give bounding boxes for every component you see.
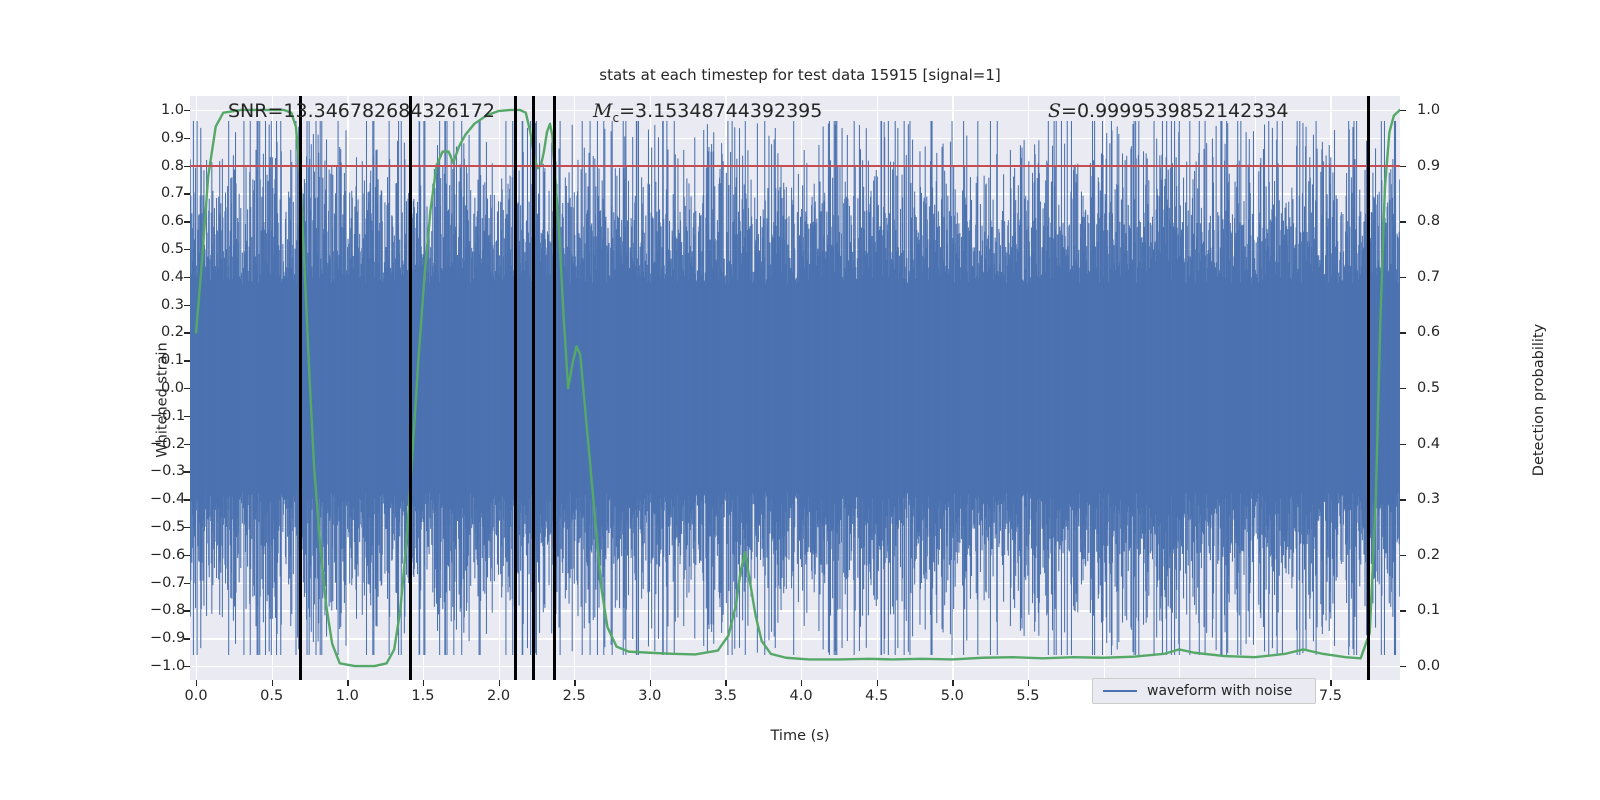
x-tick-label: 1.5 [393, 688, 453, 704]
marker-line [532, 96, 535, 680]
y-tick-label-left: 0.5 [150, 241, 184, 257]
x-tick-mark [952, 680, 953, 686]
marker-line [553, 96, 556, 680]
y-tick-label-left: −1.0 [150, 658, 184, 674]
x-tick-label: 5.5 [998, 688, 1058, 704]
x-tick-label: 3.5 [695, 688, 755, 704]
y-tick-label-right: 0.3 [1417, 491, 1457, 507]
y-tick-label-right: 0.5 [1417, 380, 1457, 396]
y-tick-label-right: 0.1 [1417, 602, 1457, 618]
y-tick-label-right: 1.0 [1417, 102, 1457, 118]
y-tick-label-left: 0.0 [150, 380, 184, 396]
x-tick-label: 0.5 [242, 688, 302, 704]
marker-line [1367, 96, 1370, 680]
y-tick-label-right: 0.8 [1417, 213, 1457, 229]
y-tick-label-left: 0.8 [150, 158, 184, 174]
y-tick-mark-right [1400, 666, 1406, 667]
y-tick-label-left: 0.3 [150, 297, 184, 313]
x-tick-mark [1028, 680, 1029, 686]
y-tick-mark-right [1400, 277, 1406, 278]
x-tick-mark [877, 680, 878, 686]
y-tick-label-left: 0.6 [150, 213, 184, 229]
y-tick-mark-right [1400, 555, 1406, 556]
y-tick-label-right: 0.6 [1417, 324, 1457, 340]
x-tick-label: 2.5 [544, 688, 604, 704]
x-axis-label: Time (s) [0, 728, 1600, 744]
probability-trace [196, 110, 1400, 666]
y-tick-mark-right [1400, 388, 1406, 389]
y-tick-mark-right [1400, 221, 1406, 222]
annotation-s-value: =0.9999539852142334 [1061, 100, 1288, 122]
page-title: stats at each timestep for test data 159… [0, 66, 1600, 84]
y-tick-label-left: 0.2 [150, 324, 184, 340]
y-tick-label-right: 0.7 [1417, 269, 1457, 285]
y-tick-mark-right [1400, 332, 1406, 333]
annotation-mc-value: =3.15348744392395 [619, 100, 822, 122]
x-tick-mark [499, 680, 500, 686]
x-tick-mark [801, 680, 802, 686]
x-tick-label: 3.0 [620, 688, 680, 704]
marker-line [409, 96, 412, 680]
x-tick-mark [347, 680, 348, 686]
y-tick-mark-right [1400, 444, 1406, 445]
y-tick-label-left: 0.7 [150, 185, 184, 201]
marker-line [514, 96, 517, 680]
y-tick-label-right: 0.0 [1417, 658, 1457, 674]
x-tick-mark [423, 680, 424, 686]
y-tick-label-left: 0.1 [150, 352, 184, 368]
x-tick-label: 5.0 [922, 688, 982, 704]
y-tick-label-right: 0.4 [1417, 436, 1457, 452]
y-tick-label-left: −0.3 [150, 463, 184, 479]
y-tick-label-left: −0.9 [150, 630, 184, 646]
y-tick-label-left: −0.4 [150, 491, 184, 507]
x-tick-label: 0.0 [166, 688, 226, 704]
y-tick-label-left: −0.2 [150, 436, 184, 452]
y-tick-label-right: 0.2 [1417, 547, 1457, 563]
detection-probability-series [190, 96, 1400, 680]
marker-line [299, 96, 302, 680]
annotation-snr: SNR=13.346782684326172 [228, 100, 495, 122]
y-tick-label-right: 0.9 [1417, 158, 1457, 174]
y-tick-mark-right [1400, 166, 1406, 167]
x-tick-label: 4.5 [847, 688, 907, 704]
x-tick-label: 1.0 [317, 688, 377, 704]
y-tick-label-left: 0.9 [150, 130, 184, 146]
y-tick-label-left: −0.7 [150, 575, 184, 591]
annotation-snr-text: SNR=13.346782684326172 [228, 100, 495, 122]
annotation-s-symbol: S [1048, 100, 1061, 122]
threshold-line [190, 165, 1400, 167]
y-tick-mark-right [1400, 610, 1406, 611]
x-tick-mark [1330, 680, 1331, 686]
plot-area [190, 96, 1400, 680]
x-tick-mark [196, 680, 197, 686]
x-tick-mark [650, 680, 651, 686]
y-tick-label-left: −0.8 [150, 602, 184, 618]
y-tick-label-left: −0.1 [150, 408, 184, 424]
x-tick-mark [574, 680, 575, 686]
legend-label-waveform: waveform with noise [1147, 683, 1292, 699]
y-tick-mark-right [1400, 499, 1406, 500]
annotation-chirp-mass: Mc=3.15348744392395 [593, 100, 822, 125]
y2-axis-label: Detection probability [1531, 324, 1547, 476]
x-tick-label: 2.0 [469, 688, 529, 704]
annotation-score: S=0.9999539852142334 [1048, 100, 1289, 122]
y-tick-label-left: 1.0 [150, 102, 184, 118]
legend-swatch-waveform [1103, 690, 1137, 693]
annotation-mc-symbol: M [593, 100, 612, 122]
legend[interactable]: waveform with noise [1092, 678, 1316, 704]
x-tick-label: 4.0 [771, 688, 831, 704]
y-tick-mark-right [1400, 110, 1406, 111]
figure-canvas: stats at each timestep for test data 159… [0, 0, 1600, 800]
y-tick-label-left: 0.4 [150, 269, 184, 285]
y-tick-label-left: −0.6 [150, 547, 184, 563]
y-tick-label-left: −0.5 [150, 519, 184, 535]
x-tick-mark [272, 680, 273, 686]
x-tick-mark [725, 680, 726, 686]
